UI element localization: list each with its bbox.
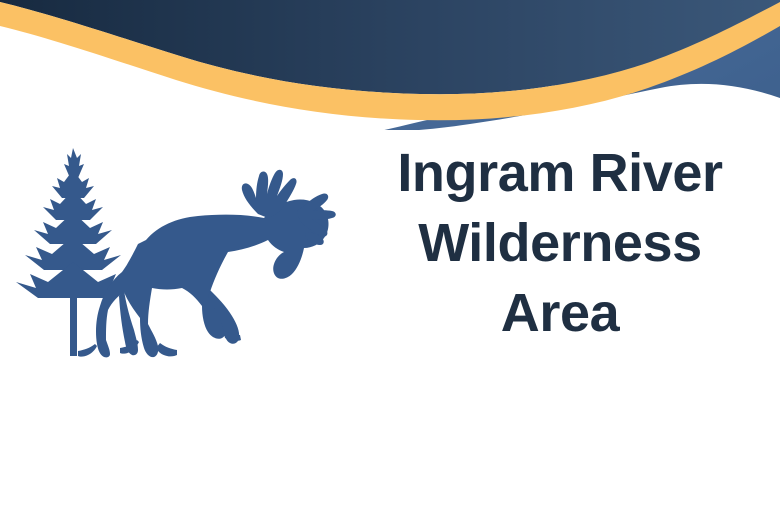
wilderness-banner: Ingram River Wilderness Area [0,0,780,510]
title-line-3: Area [355,278,765,348]
blue-accent-wave [380,0,780,130]
moose-icon [78,170,336,358]
page-title: Ingram River Wilderness Area [355,138,765,348]
title-line-2: Wilderness [355,208,765,278]
pine-tree-icon [16,148,130,356]
gold-band [0,2,780,120]
decorative-wave-header [0,0,780,130]
navy-band [0,0,780,94]
wilderness-artwork [6,140,336,370]
title-line-1: Ingram River [355,138,765,208]
